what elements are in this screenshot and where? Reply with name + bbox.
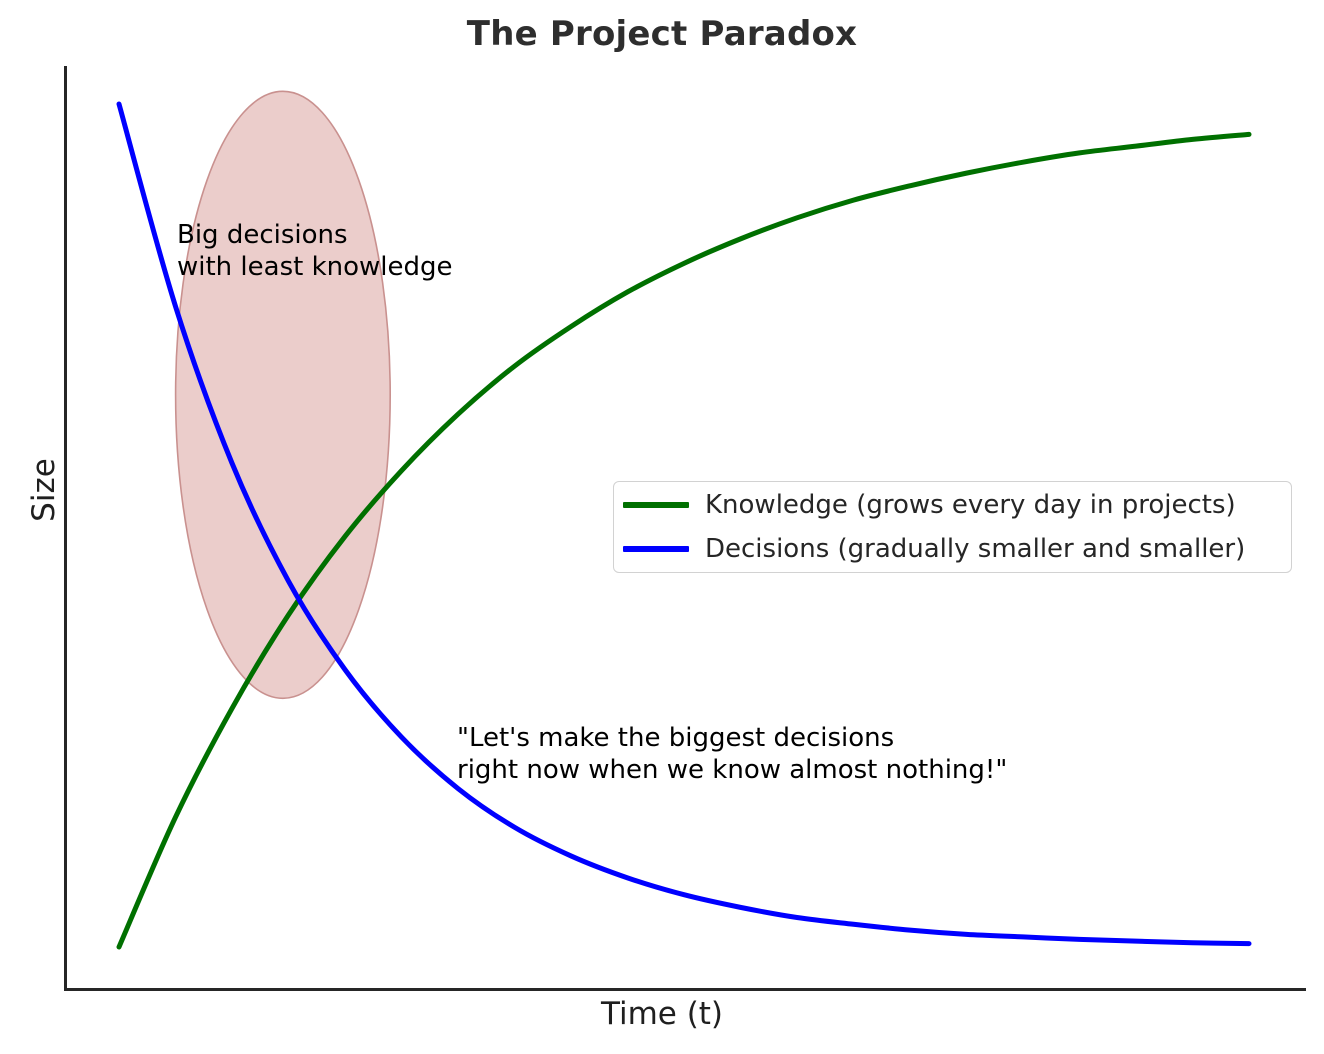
blue-line-swatch	[623, 546, 689, 552]
chart-figure: The Project Paradox Big decisions with l…	[0, 0, 1324, 1054]
legend: Knowledge (grows every day in projects) …	[613, 481, 1292, 573]
legend-label-knowledge: Knowledge (grows every day in projects)	[705, 490, 1236, 520]
legend-entry-decisions[interactable]: Decisions (gradually smaller and smaller…	[614, 526, 1291, 572]
legend-entry-knowledge[interactable]: Knowledge (grows every day in projects)	[614, 482, 1291, 528]
x-axis-label: Time (t)	[0, 996, 1324, 1032]
y-axis-label: Size	[26, 430, 62, 550]
legend-label-decisions: Decisions (gradually smaller and smaller…	[705, 534, 1245, 564]
annotation-big-decisions: Big decisions with least knowledge	[177, 220, 453, 283]
annotation-quote: "Let's make the biggest decisions right …	[457, 723, 1007, 786]
green-line-swatch	[623, 502, 689, 508]
